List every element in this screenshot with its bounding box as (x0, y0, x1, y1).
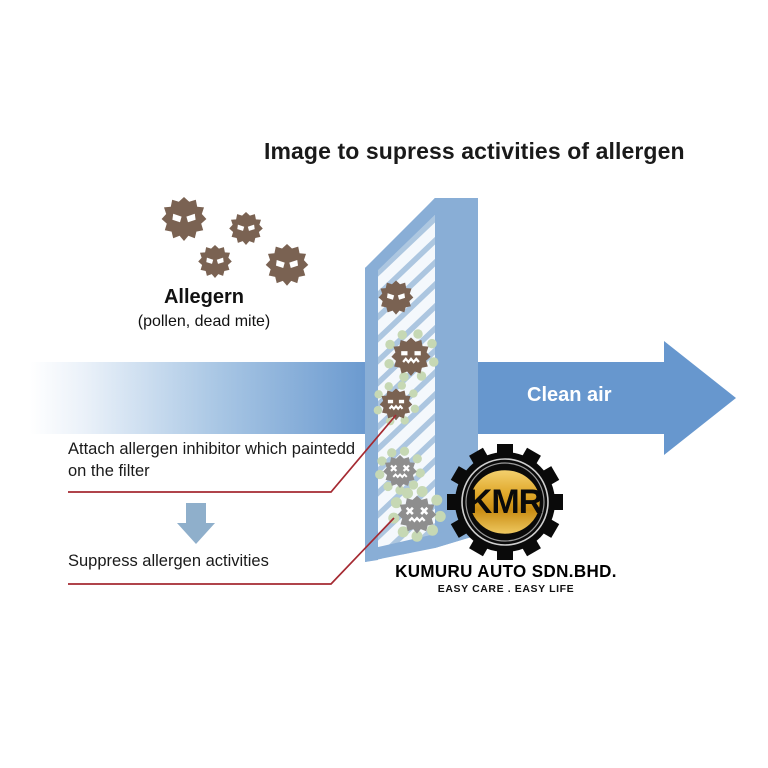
down-arrow-icon (177, 503, 215, 544)
company-name: KUMURU AUTO SDN.BHD. (392, 561, 621, 582)
spiky-allergen-icon (266, 244, 309, 286)
callout-note-suppress: Suppress allergen activities (68, 550, 358, 572)
allergen-sublabel: (pollen, dead mite) (110, 313, 298, 331)
svg-text:KMR: KMR (468, 483, 543, 521)
allergen-label: Allegern (118, 286, 290, 309)
allergen-cluster-incoming (162, 197, 309, 286)
callout-note-attach: Attach allergen inhibitor which paintedd… (68, 438, 358, 482)
allergen-suppression-diagram: KMR (0, 0, 768, 768)
page-title: Image to supress activities of allergen (264, 138, 685, 165)
clean-air-label: Clean air (527, 384, 611, 407)
incoming-air-band (30, 362, 375, 434)
spiky-allergen-icon (198, 245, 232, 278)
spiky-allergen-icon (162, 197, 207, 241)
spiky-allergen-icon (229, 212, 263, 245)
company-tagline: EASY CARE . EASY LIFE (388, 583, 624, 595)
